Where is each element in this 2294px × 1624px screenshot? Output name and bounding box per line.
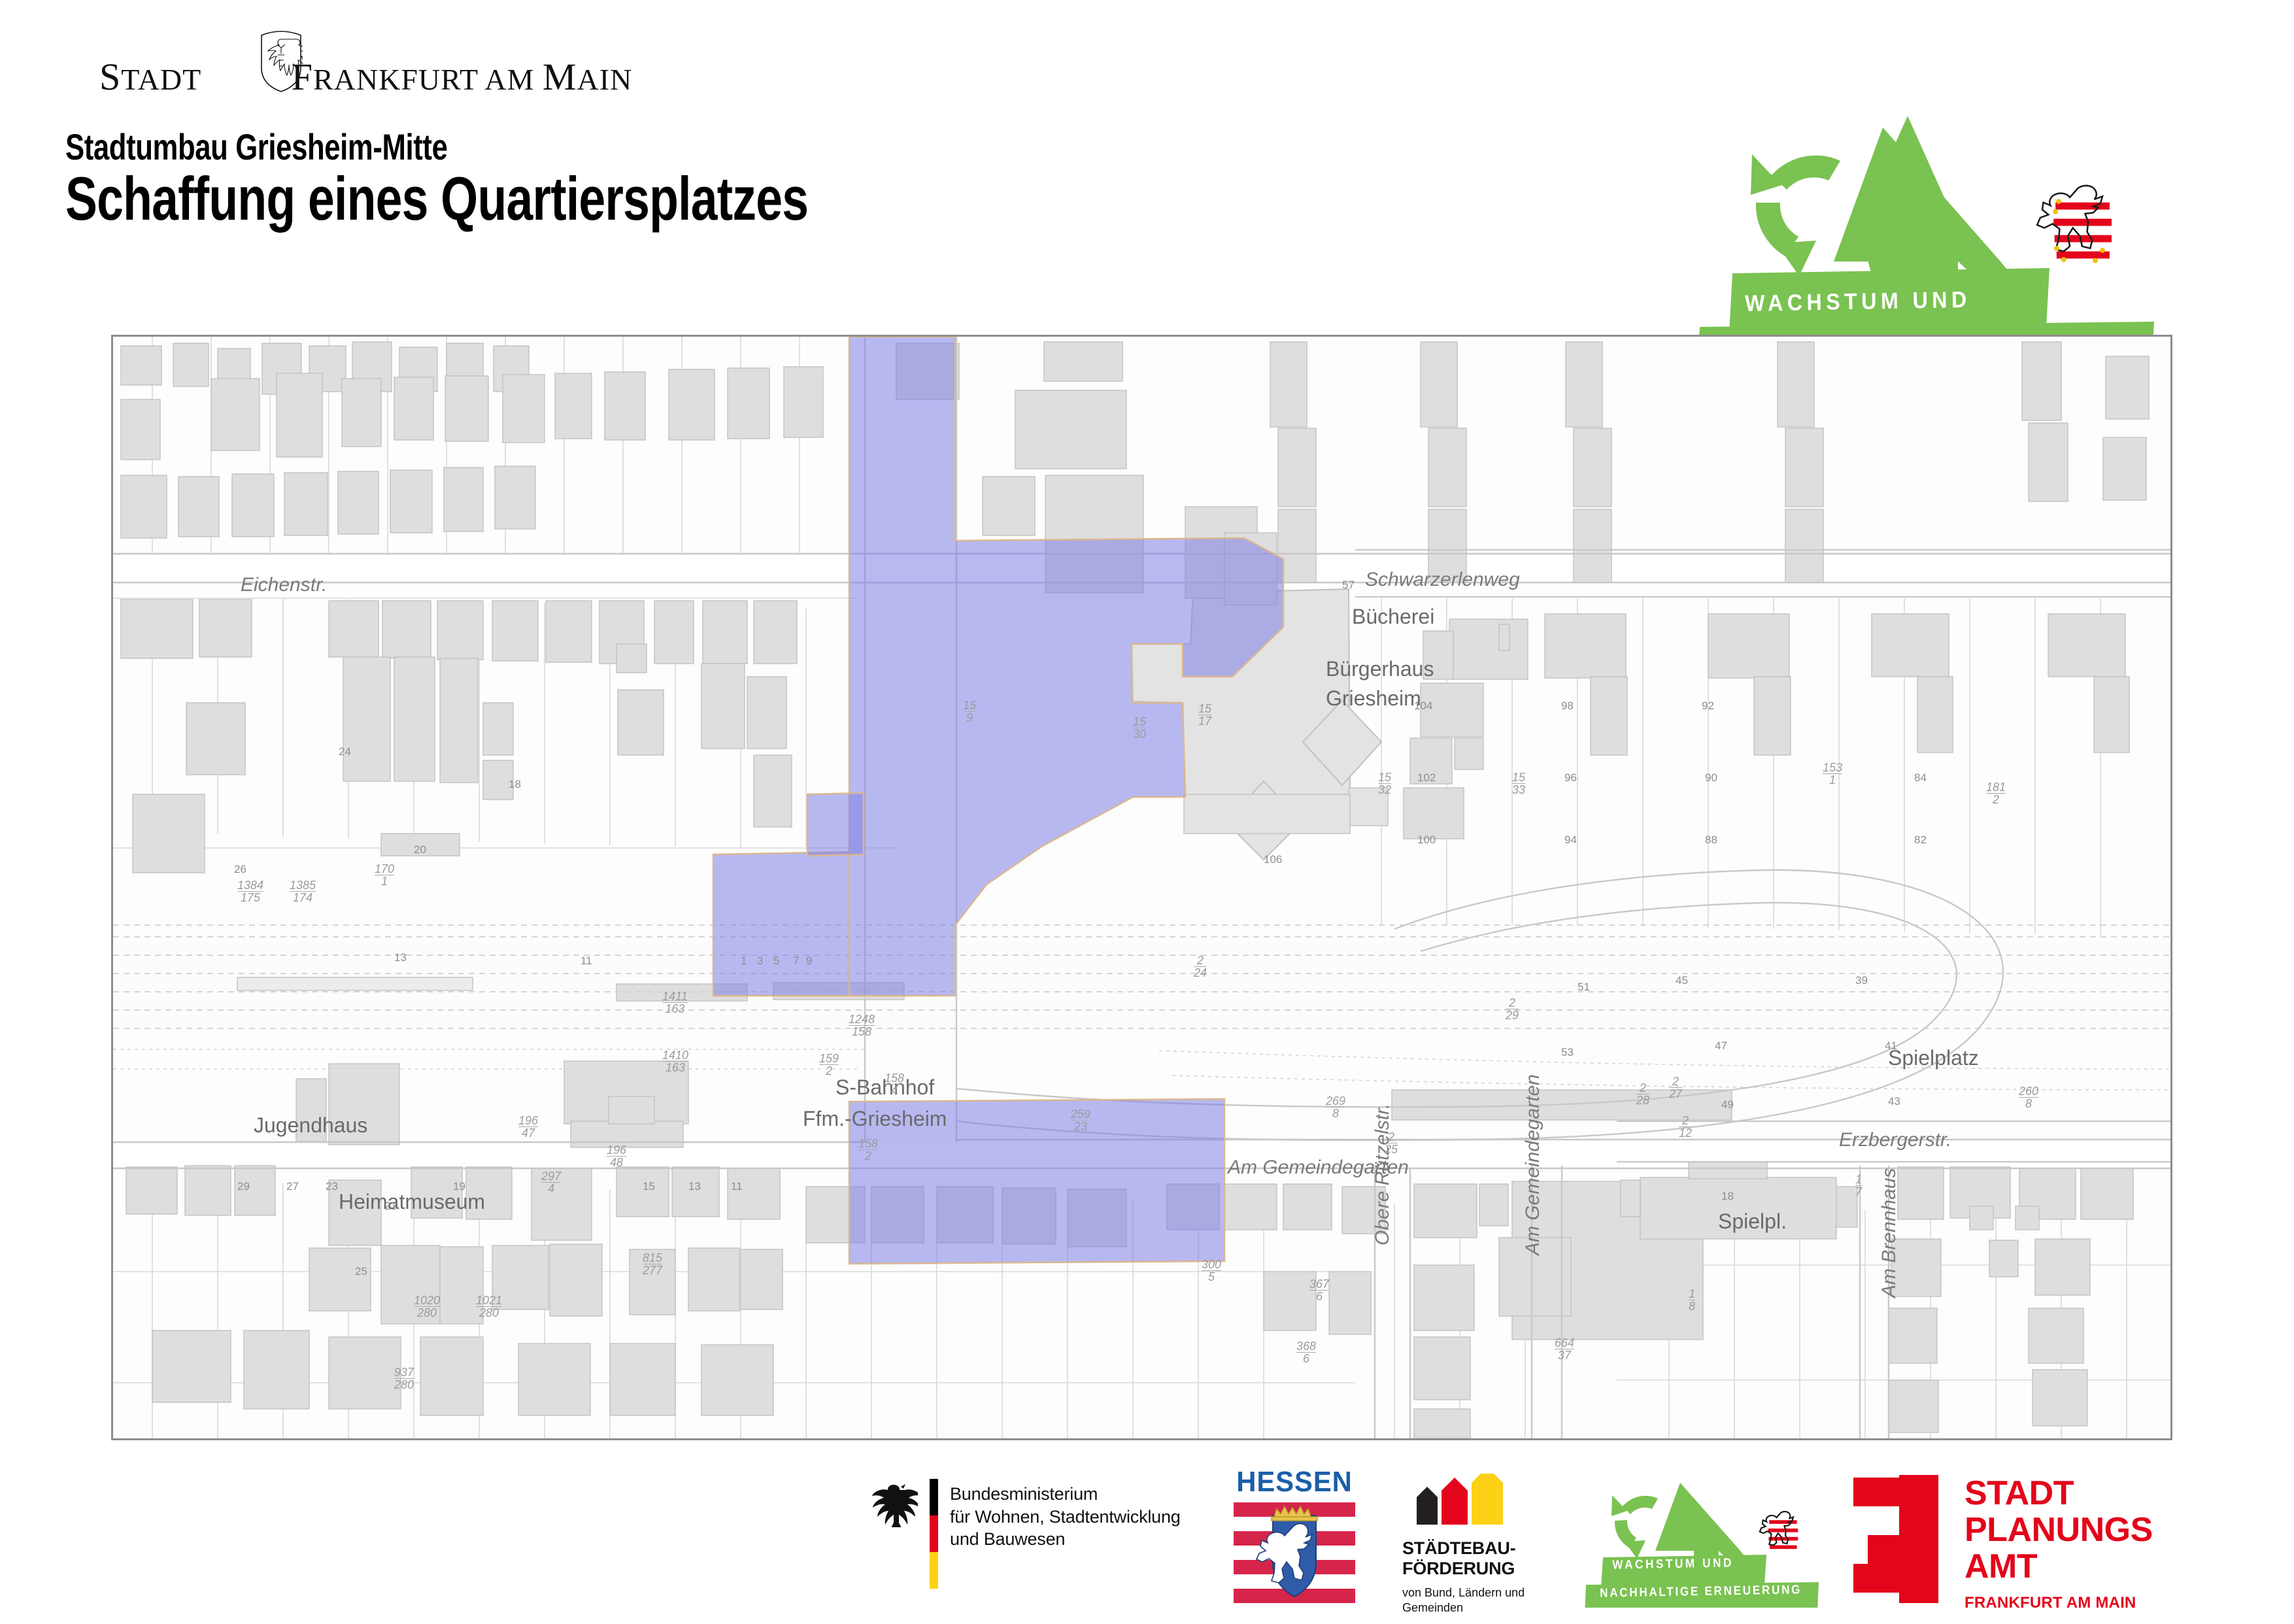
map-parcel-fraction: 17 — [1855, 1174, 1862, 1198]
map-parcel-fraction: 1532 — [1378, 771, 1391, 796]
map-parcel-fraction: 1410163 — [662, 1049, 688, 1074]
page-kicker: Stadtumbau Griesheim-Mitte — [65, 126, 447, 168]
map-vector-layer — [113, 337, 2170, 1438]
map-house-number: 102 — [1417, 771, 1436, 785]
map-parcel-fraction: 224 — [1194, 955, 1207, 979]
map-parcel-fraction: 18 — [1689, 1288, 1695, 1312]
map-house-number: 88 — [1705, 834, 1717, 847]
spa-subtitle: FRANKFURT AM MAIN — [1965, 1594, 2153, 1612]
map-house-number: 106 — [1264, 853, 1282, 866]
bmwsb-logo: Bundesministerium für Wohnen, Stadtentwi… — [869, 1479, 1181, 1589]
bmwsb-line-2: für Wohnen, Stadtentwicklung — [950, 1506, 1181, 1529]
map-parcel-fraction: 225 — [1385, 1131, 1398, 1155]
map-house-number: 84 — [1914, 771, 1927, 785]
map-house-number: 7 — [793, 955, 799, 968]
map-parcel-fraction: 1584 — [885, 1072, 904, 1096]
badge-line-1: WACHSTUM UND — [1745, 287, 1971, 317]
map-house-number: 43 — [1888, 1095, 1900, 1108]
map-parcel-fraction: 1517 — [1198, 703, 1211, 727]
page-title: Schaffung eines Quartiersplatzes — [65, 163, 808, 234]
map-poi-label: Spielplatz — [1888, 1046, 1979, 1070]
map-house-number: 25 — [355, 1265, 367, 1278]
stadtplanungsamt-mark-icon — [1834, 1475, 1938, 1603]
map-parcel-fraction: 2974 — [541, 1170, 561, 1194]
map-street-label: Schwarzerlenweg — [1365, 569, 1520, 591]
bmwsb-line-3: und Bauwesen — [950, 1528, 1181, 1551]
staedtebaufoerderung-logo: STÄDTEBAU- FÖRDERUNG von Bund, Ländern u… — [1402, 1474, 1598, 1615]
map-parcel-fraction: 2698 — [1326, 1095, 1345, 1119]
map-house-number: 39 — [1855, 974, 1868, 987]
map-house-number: 98 — [1561, 700, 1574, 713]
wachstum-footer-logo: WACHSTUM UND NACHHALTIGE ERNEUERUNG STÄD… — [1582, 1474, 1837, 1608]
staedtebau-line-2: FÖRDERUNG — [1402, 1559, 1598, 1579]
bmwsb-line-1: Bundesministerium — [950, 1483, 1181, 1506]
hessen-coat-of-arms-icon — [1226, 1501, 1363, 1604]
map-house-number: 18 — [509, 778, 521, 791]
map-parcel-fraction: 1385174 — [290, 879, 316, 904]
page-header: STADT FRANKFURT AM MAIN Stadtumbau Gries… — [0, 0, 2294, 307]
cadastral-map[interactable]: Eichenstr.SchwarzerlenwegErzbergerstr.Am… — [111, 335, 2172, 1440]
stadt-frankfurt-logo: STADT FRANKFURT AM MAIN — [99, 39, 518, 97]
map-parcel-fraction: 1533 — [1512, 771, 1525, 796]
map-parcel-fraction: 19648 — [607, 1144, 626, 1168]
map-street-label: Erzbergerstr. — [1839, 1129, 1951, 1151]
map-parcel-fraction: 1384175 — [237, 879, 263, 904]
map-house-number: 13 — [394, 951, 407, 964]
map-parcel-fraction: 212 — [1679, 1115, 1692, 1139]
map-parcel-fraction: 3676 — [1309, 1278, 1329, 1302]
map-parcel-fraction: 159 — [963, 700, 976, 724]
map-parcel-fraction: 66437 — [1555, 1337, 1574, 1361]
map-house-number: 41 — [1885, 1040, 1897, 1053]
hessen-logo: HESSEN — [1226, 1466, 1363, 1608]
staedtebau-line-1: STÄDTEBAU- — [1402, 1538, 1598, 1559]
map-parcel-fraction: 19647 — [518, 1115, 538, 1139]
map-house-number: 94 — [1564, 834, 1577, 847]
map-parcel-fraction: 229 — [1506, 997, 1519, 1021]
map-poi-label: Bürgerhaus — [1326, 657, 1434, 681]
map-house-number: 82 — [1914, 834, 1927, 847]
map-house-number: 21 — [384, 1200, 397, 1213]
german-flag-bar — [930, 1479, 938, 1589]
map-parcel-fraction: 1701 — [375, 863, 394, 887]
spa-line-2: PLANUNGS — [1965, 1512, 2153, 1548]
map-house-number: 51 — [1577, 981, 1590, 994]
map-house-number: 92 — [1702, 700, 1714, 713]
staedtebau-sub-2: Gemeinden — [1402, 1600, 1598, 1616]
map-house-number: 23 — [326, 1180, 338, 1193]
three-houses-icon — [1402, 1474, 1533, 1529]
map-house-number: 11 — [731, 1180, 743, 1193]
map-house-number: 26 — [234, 863, 246, 876]
map-parcel-fraction: 3005 — [1202, 1259, 1221, 1283]
map-poi-label: Griesheim — [1326, 686, 1421, 711]
map-parcel-fraction: 227 — [1669, 1075, 1682, 1100]
map-house-number: 11 — [581, 955, 592, 968]
map-house-number: 1 — [741, 955, 747, 968]
map-parcel-fraction: 815277 — [643, 1252, 662, 1276]
map-parcel-fraction: 1411163 — [662, 990, 688, 1015]
map-house-number: 18 — [1721, 1190, 1734, 1203]
map-poi-label: Spielpl. — [1718, 1210, 1787, 1234]
map-house-number: 29 — [237, 1180, 250, 1193]
map-house-number: 13 — [688, 1180, 701, 1193]
map-poi-label: Jugendhaus — [254, 1113, 367, 1138]
map-parcel-fraction: 1531 — [1823, 762, 1842, 786]
map-house-number: 15 — [643, 1180, 655, 1193]
map-parcel-fraction: 1582 — [858, 1138, 878, 1162]
map-parcel-fraction: 1812 — [1986, 781, 2006, 805]
map-house-number: 3 — [757, 955, 763, 968]
staedtebau-sub-1: von Bund, Ländern und — [1402, 1585, 1598, 1600]
map-house-number: 27 — [286, 1180, 299, 1193]
map-house-number: 49 — [1721, 1098, 1734, 1111]
map-parcel-fraction: 1592 — [819, 1053, 839, 1077]
footer-logo-bar: Bundesministerium für Wohnen, Stadtentwi… — [0, 1464, 2294, 1621]
map-parcel-fraction: 1021280 — [476, 1294, 502, 1319]
wachstum-footer-line-1: WACHSTUM UND — [1612, 1556, 1734, 1572]
map-parcel-fraction: 1530 — [1133, 716, 1146, 740]
stadtplanungsamt-logo: STADT PLANUNGS AMT FRANKFURT AM MAIN — [1834, 1475, 2153, 1612]
map-parcel-fraction: 3686 — [1296, 1340, 1316, 1364]
spa-line-1: STADT — [1965, 1475, 2153, 1512]
map-parcel-fraction: 25923 — [1071, 1108, 1090, 1132]
map-house-number: 53 — [1561, 1046, 1574, 1059]
map-house-number: 19 — [453, 1180, 465, 1193]
city-logo-wordmark: STADT FRANKFURT AM MAIN — [99, 55, 632, 99]
map-house-number: 100 — [1417, 834, 1436, 847]
federal-eagle-icon — [869, 1479, 918, 1527]
map-poi-label: Bücherei — [1352, 605, 1434, 629]
map-house-number: 104 — [1414, 700, 1432, 713]
map-street-label: Am Brennhaus — [1878, 1168, 1900, 1298]
map-parcel-fraction: 937280 — [394, 1366, 414, 1391]
map-house-number: 45 — [1676, 974, 1688, 987]
map-parcel-fraction: 1020280 — [414, 1294, 440, 1319]
map-house-number: 24 — [339, 745, 351, 758]
map-street-label: Am Gemeindegarten — [1522, 1074, 1544, 1255]
map-poi-label: Heimatmuseum — [339, 1190, 485, 1214]
map-poi-label: Ffm.-Griesheim — [803, 1107, 947, 1131]
spa-line-3: AMT — [1965, 1548, 2153, 1585]
hessen-wordmark: HESSEN — [1229, 1466, 1360, 1498]
map-house-number: 96 — [1564, 771, 1577, 785]
map-parcel-fraction: 1248158 — [849, 1013, 875, 1038]
map-street-label: Eichenstr. — [241, 574, 327, 596]
map-parcel-fraction: 228 — [1636, 1082, 1649, 1106]
map-parcel-fraction: 2608 — [2019, 1085, 2038, 1109]
map-house-number: 47 — [1715, 1040, 1727, 1053]
map-house-number: 9 — [806, 955, 812, 968]
map-street-label: Obere Rützelstr. — [1372, 1104, 1394, 1245]
map-house-number: 5 — [773, 955, 779, 968]
map-house-number: 20 — [414, 843, 426, 856]
map-house-number: 90 — [1705, 771, 1717, 785]
map-house-number: 57 — [1342, 579, 1355, 592]
